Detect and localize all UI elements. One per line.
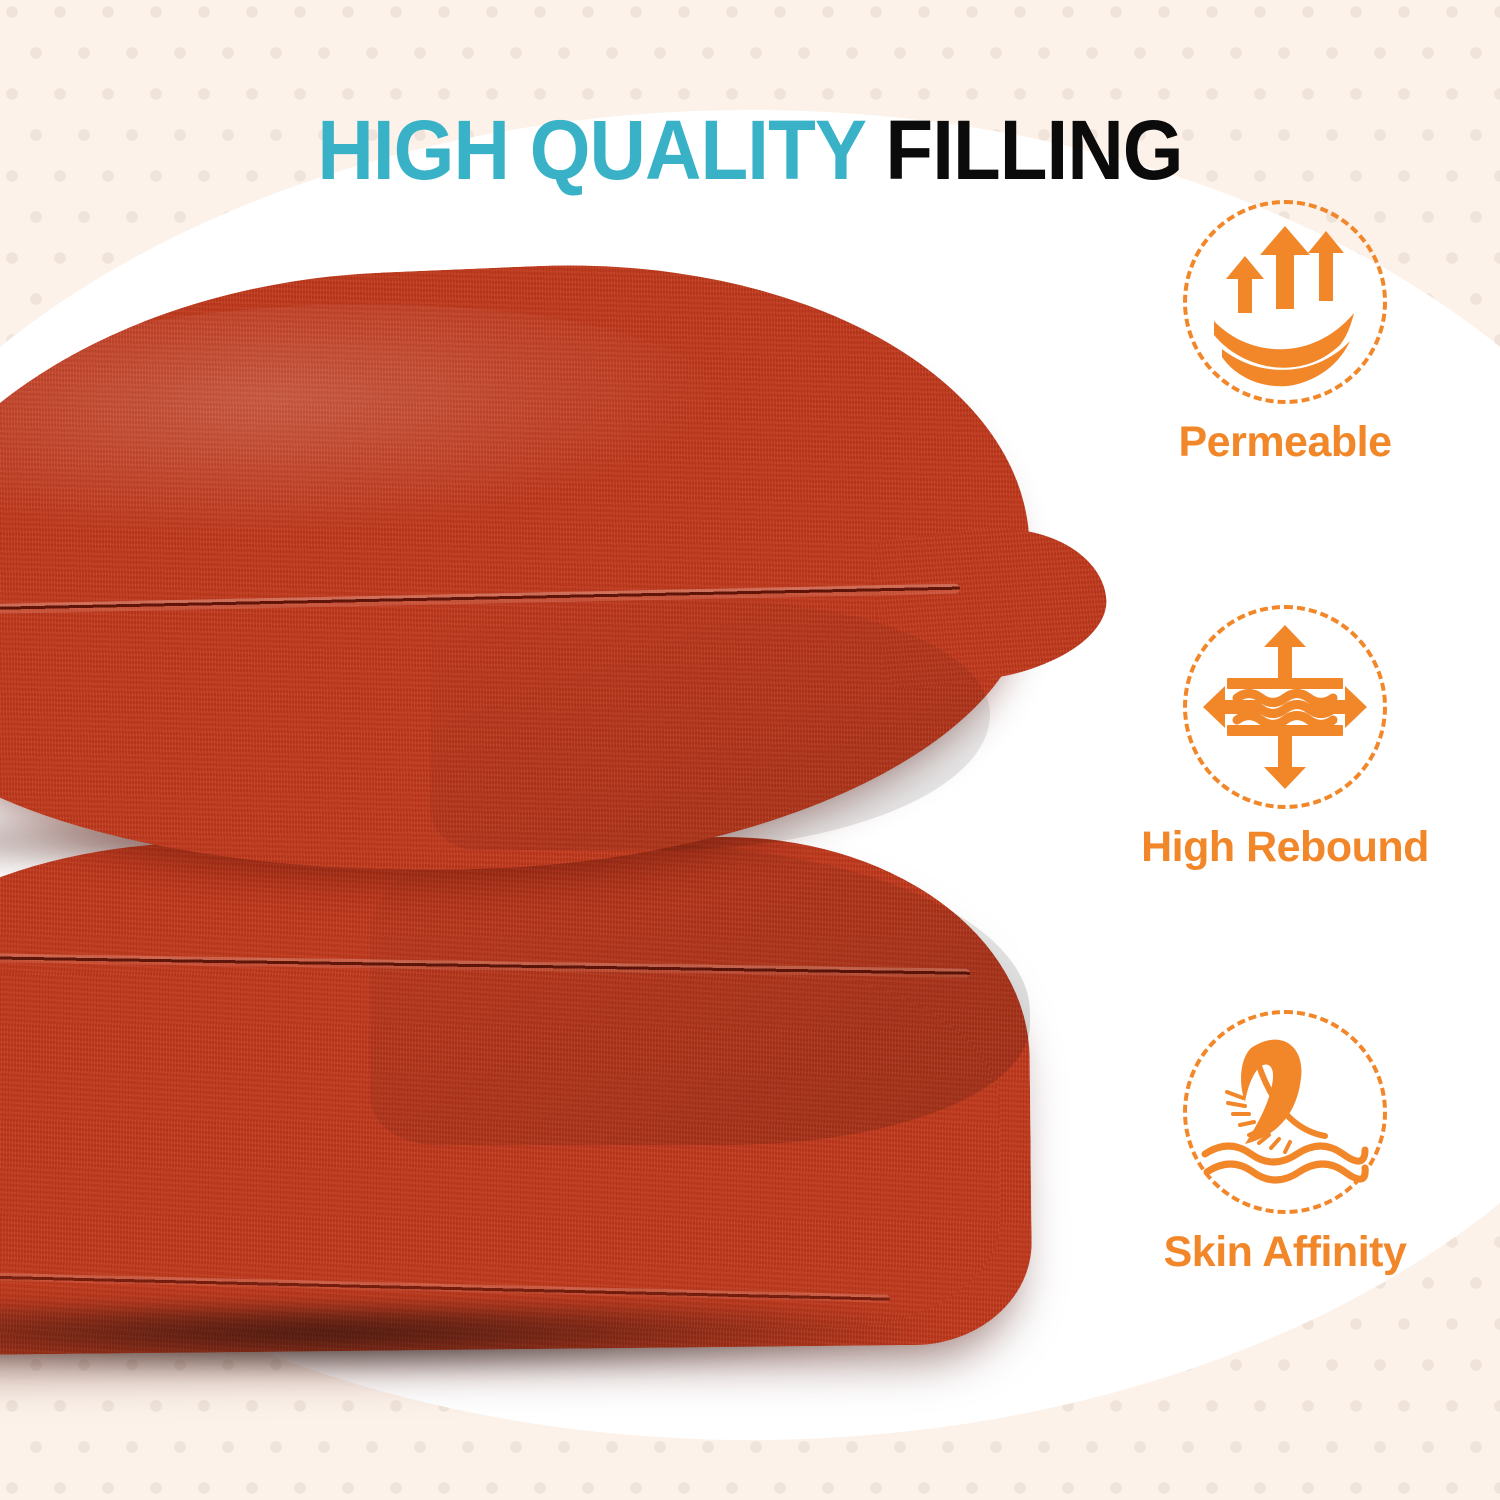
product-image xyxy=(0,270,1100,1390)
title-rest: FILLING xyxy=(885,103,1182,197)
top-pillow-highlight xyxy=(0,289,728,553)
high-rebound-dashed-circle xyxy=(1183,605,1387,809)
infographic-canvas: HIGH QUALITY FILLING xyxy=(0,0,1500,1500)
high-rebound-icon xyxy=(1201,623,1369,791)
page-title: HIGH QUALITY FILLING xyxy=(53,108,1448,192)
feature-skin-affinity[interactable]: Skin Affinity xyxy=(1075,1010,1495,1277)
feature-high-rebound[interactable]: High Rebound xyxy=(1075,605,1495,872)
feature-high-rebound-label: High Rebound xyxy=(1075,823,1495,872)
top-pillow-fold-shading xyxy=(430,600,990,850)
title-highlight: HIGH QUALITY xyxy=(317,103,864,197)
feature-permeable[interactable]: Permeable xyxy=(1075,200,1495,467)
ground-shadow xyxy=(0,1305,940,1375)
skin-affinity-feather-icon xyxy=(1199,1026,1371,1198)
permeable-airflow-icon xyxy=(1200,217,1370,387)
feature-permeable-label: Permeable xyxy=(1075,418,1495,467)
feature-list: Permeable xyxy=(1075,200,1495,1277)
bottom-cushion-shading xyxy=(370,845,1030,1145)
skin-affinity-dashed-circle xyxy=(1183,1010,1387,1214)
feature-skin-affinity-label: Skin Affinity xyxy=(1075,1228,1495,1277)
permeable-dashed-circle xyxy=(1183,200,1387,404)
